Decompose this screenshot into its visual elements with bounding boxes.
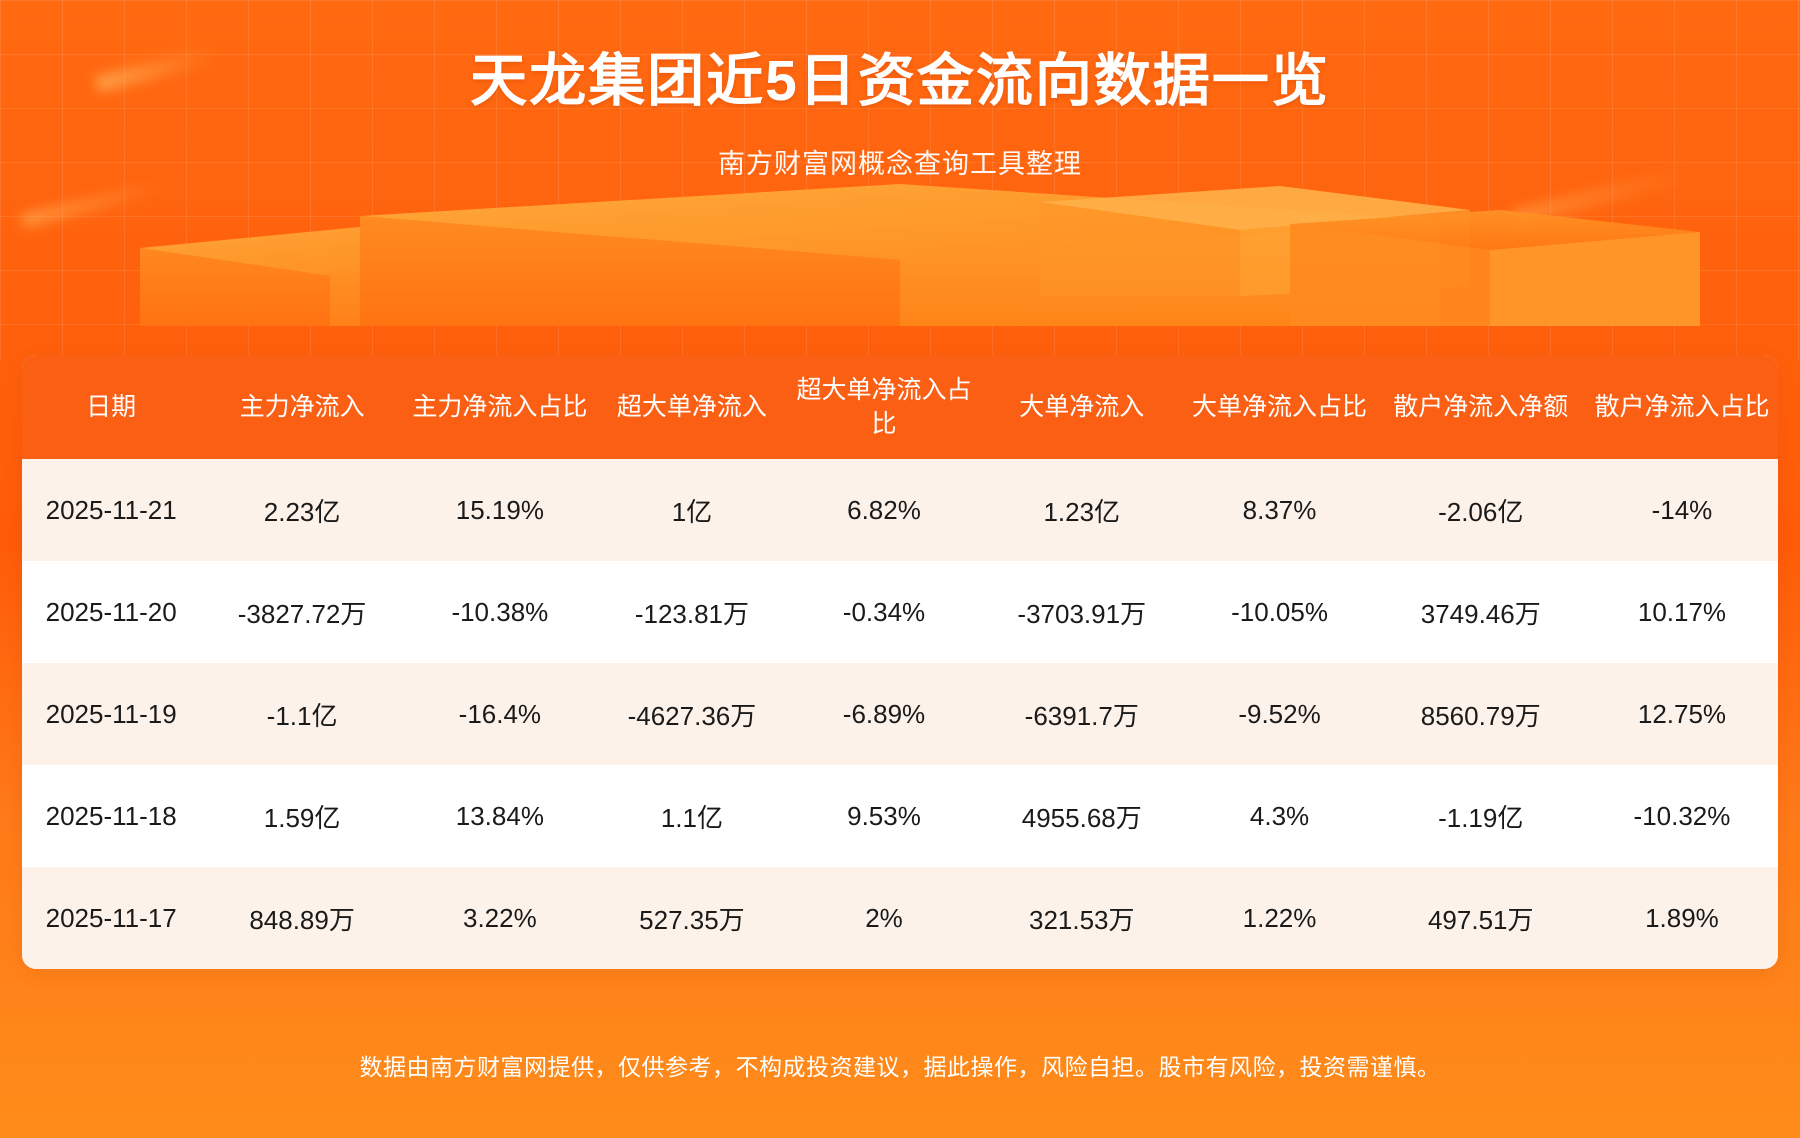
column-header-date[interactable]: 日期 xyxy=(22,355,200,459)
cell-date: 2025-11-21 xyxy=(22,459,200,561)
table-row: 2025-11-17 848.89万 3.22% 527.35万 2% 321.… xyxy=(22,867,1778,969)
cell-xlarge-pct: -0.34% xyxy=(788,561,980,663)
cell-retail-net: 3749.46万 xyxy=(1376,561,1586,663)
cell-large-pct: -10.05% xyxy=(1184,561,1376,663)
cell-large-net: 4955.68万 xyxy=(980,765,1183,867)
cell-date: 2025-11-19 xyxy=(22,663,200,765)
cell-retail-pct: -14% xyxy=(1586,459,1778,561)
cell-large-pct: 1.22% xyxy=(1184,867,1376,969)
cell-main-pct: 3.22% xyxy=(404,867,596,969)
cell-large-net: 1.23亿 xyxy=(980,459,1183,561)
cell-retail-pct: 10.17% xyxy=(1586,561,1778,663)
table-row: 2025-11-19 -1.1亿 -16.4% -4627.36万 -6.89%… xyxy=(22,663,1778,765)
cell-retail-pct: 12.75% xyxy=(1586,663,1778,765)
cell-xlarge-pct: 9.53% xyxy=(788,765,980,867)
table-header-row: 日期 主力净流入 主力净流入占比 超大单净流入 超大单净流入占比 大单净流入 大… xyxy=(22,355,1778,459)
cell-retail-pct: -10.32% xyxy=(1586,765,1778,867)
cell-main-net: -1.1亿 xyxy=(200,663,403,765)
cell-large-pct: 8.37% xyxy=(1184,459,1376,561)
cell-main-net: 1.59亿 xyxy=(200,765,403,867)
cell-date: 2025-11-18 xyxy=(22,765,200,867)
data-table-card: 南方财富网 Southmoney.com 日期 主力净流入 主力净流入占比 超大… xyxy=(22,355,1778,969)
light-streak-decoration xyxy=(21,178,170,228)
cell-retail-pct: 1.89% xyxy=(1586,867,1778,969)
disclaimer-text: 数据由南方财富网提供，仅供参考，不构成投资建议，据此操作，风险自担。股市有风险，… xyxy=(0,1050,1800,1084)
table-row: 2025-11-18 1.59亿 13.84% 1.1亿 9.53% 4955.… xyxy=(22,765,1778,867)
column-header-large-pct[interactable]: 大单净流入占比 xyxy=(1184,355,1376,459)
cell-xlarge-net: 527.35万 xyxy=(596,867,788,969)
table-body: 2025-11-21 2.23亿 15.19% 1亿 6.82% 1.23亿 8… xyxy=(22,459,1778,969)
cell-retail-net: 8560.79万 xyxy=(1376,663,1586,765)
cell-large-net: -6391.7万 xyxy=(980,663,1183,765)
column-header-large-net[interactable]: 大单净流入 xyxy=(980,355,1183,459)
cell-xlarge-net: -4627.36万 xyxy=(596,663,788,765)
cell-main-net: 2.23亿 xyxy=(200,459,403,561)
cell-main-pct: 13.84% xyxy=(404,765,596,867)
column-header-retail-net[interactable]: 散户净流入净额 xyxy=(1376,355,1586,459)
cell-main-net: 848.89万 xyxy=(200,867,403,969)
column-header-main-pct[interactable]: 主力净流入占比 xyxy=(404,355,596,459)
infographic-page: 天龙集团近5日资金流向数据一览 南方财富网概念查询工具整理 南方财富网 Sout… xyxy=(0,0,1800,1138)
cell-date: 2025-11-20 xyxy=(22,561,200,663)
capital-flow-table: 日期 主力净流入 主力净流入占比 超大单净流入 超大单净流入占比 大单净流入 大… xyxy=(22,355,1778,969)
table-row: 2025-11-20 -3827.72万 -10.38% -123.81万 -0… xyxy=(22,561,1778,663)
cell-xlarge-net: 1.1亿 xyxy=(596,765,788,867)
cell-main-pct: 15.19% xyxy=(404,459,596,561)
cell-retail-net: -2.06亿 xyxy=(1376,459,1586,561)
cell-date: 2025-11-17 xyxy=(22,867,200,969)
page-title: 天龙集团近5日资金流向数据一览 xyxy=(0,45,1800,117)
light-streak-decoration xyxy=(1290,219,1440,261)
cell-large-pct: -9.52% xyxy=(1184,663,1376,765)
cell-main-pct: -10.38% xyxy=(404,561,596,663)
cell-large-pct: 4.3% xyxy=(1184,765,1376,867)
cell-xlarge-net: 1亿 xyxy=(596,459,788,561)
cell-xlarge-net: -123.81万 xyxy=(596,561,788,663)
cell-retail-net: -1.19亿 xyxy=(1376,765,1586,867)
cell-xlarge-pct: 6.82% xyxy=(788,459,980,561)
cell-xlarge-pct: -6.89% xyxy=(788,663,980,765)
cell-large-net: -3703.91万 xyxy=(980,561,1183,663)
table-row: 2025-11-21 2.23亿 15.19% 1亿 6.82% 1.23亿 8… xyxy=(22,459,1778,561)
table-header: 日期 主力净流入 主力净流入占比 超大单净流入 超大单净流入占比 大单净流入 大… xyxy=(22,355,1778,459)
cell-large-net: 321.53万 xyxy=(980,867,1183,969)
column-header-main-net[interactable]: 主力净流入 xyxy=(200,355,403,459)
page-subtitle: 南方财富网概念查询工具整理 xyxy=(0,144,1800,184)
isometric-podium-illustration xyxy=(0,176,1800,326)
cell-main-net: -3827.72万 xyxy=(200,561,403,663)
cell-xlarge-pct: 2% xyxy=(788,867,980,969)
cell-main-pct: -16.4% xyxy=(404,663,596,765)
column-header-retail-pct[interactable]: 散户净流入占比 xyxy=(1586,355,1778,459)
cell-retail-net: 497.51万 xyxy=(1376,867,1586,969)
column-header-xlarge-pct[interactable]: 超大单净流入占比 xyxy=(788,355,980,459)
column-header-xlarge-net[interactable]: 超大单净流入 xyxy=(596,355,788,459)
